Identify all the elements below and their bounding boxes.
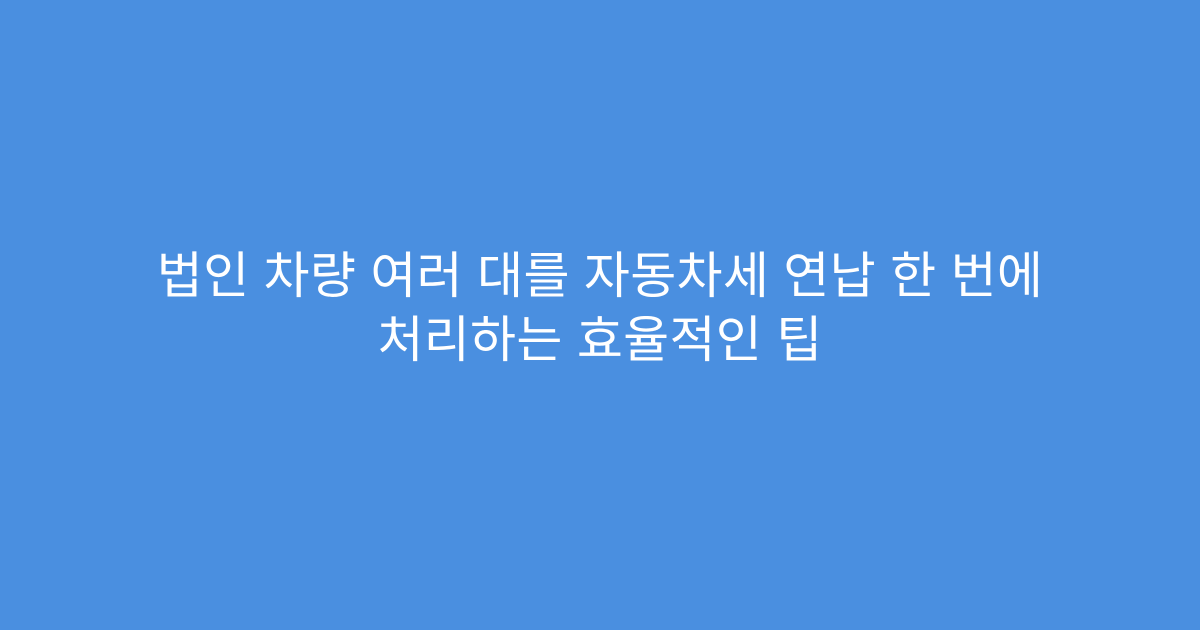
title-line-2: 처리하는 효율적인 팁	[70, 308, 1130, 372]
og-card: 법인 차량 여러 대를 자동차세 연납 한 번에 처리하는 효율적인 팁	[0, 0, 1200, 630]
title-line-1: 법인 차량 여러 대를 자동차세 연납 한 번에	[70, 244, 1130, 308]
page-title: 법인 차량 여러 대를 자동차세 연납 한 번에 처리하는 효율적인 팁	[0, 244, 1200, 372]
